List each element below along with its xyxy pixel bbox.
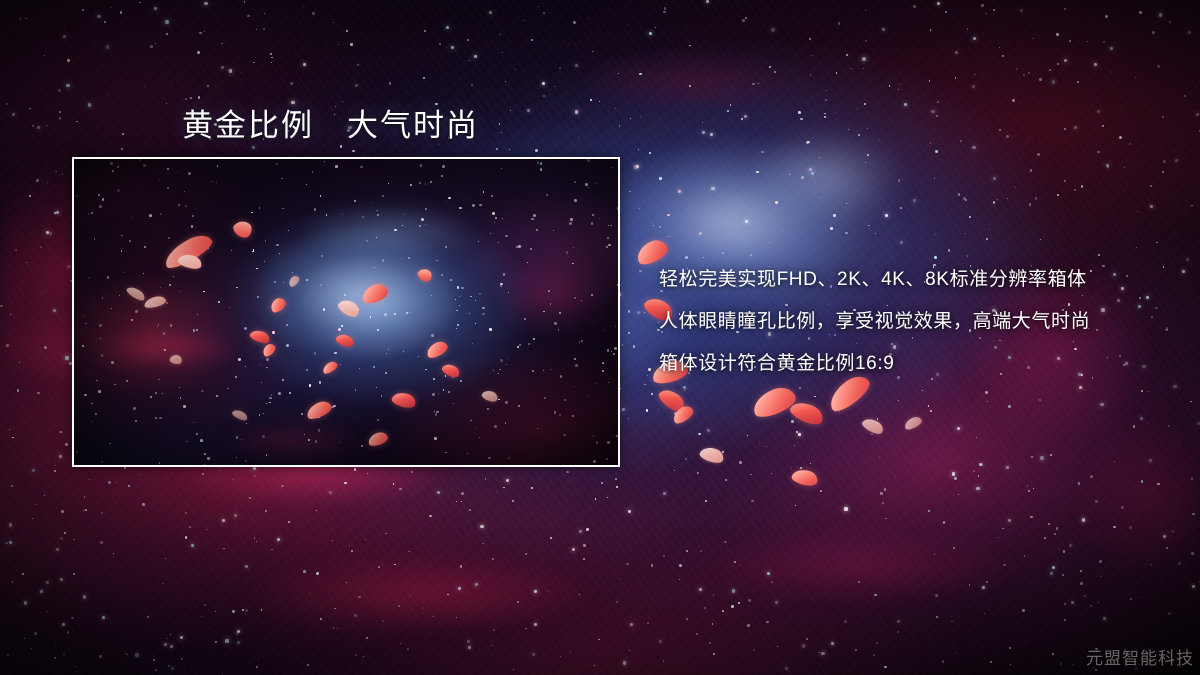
photo-frame [72, 157, 620, 467]
body-line-2: 人体眼睛瞳孔比例，享受视觉效果，高端大气时尚 [659, 301, 1179, 343]
watermark: 元盟智能科技 [1086, 644, 1194, 669]
body-line-1: 轻松完美实现FHD、2K、4K、8K标准分辨率箱体 [659, 259, 1179, 301]
photo-vignette-overlay [74, 159, 618, 465]
slide-canvas: 黄金比例 大气时尚 轻松完美实现FHD、2K、4K、8K标准分辨率箱体 人体眼睛… [0, 0, 1200, 675]
page-title: 黄金比例 大气时尚 [182, 100, 479, 145]
body-text-block: 轻松完美实现FHD、2K、4K、8K标准分辨率箱体 人体眼睛瞳孔比例，享受视觉效… [659, 259, 1179, 385]
body-line-3: 箱体设计符合黄金比例16:9 [659, 343, 1179, 385]
photo-inner [74, 159, 618, 465]
